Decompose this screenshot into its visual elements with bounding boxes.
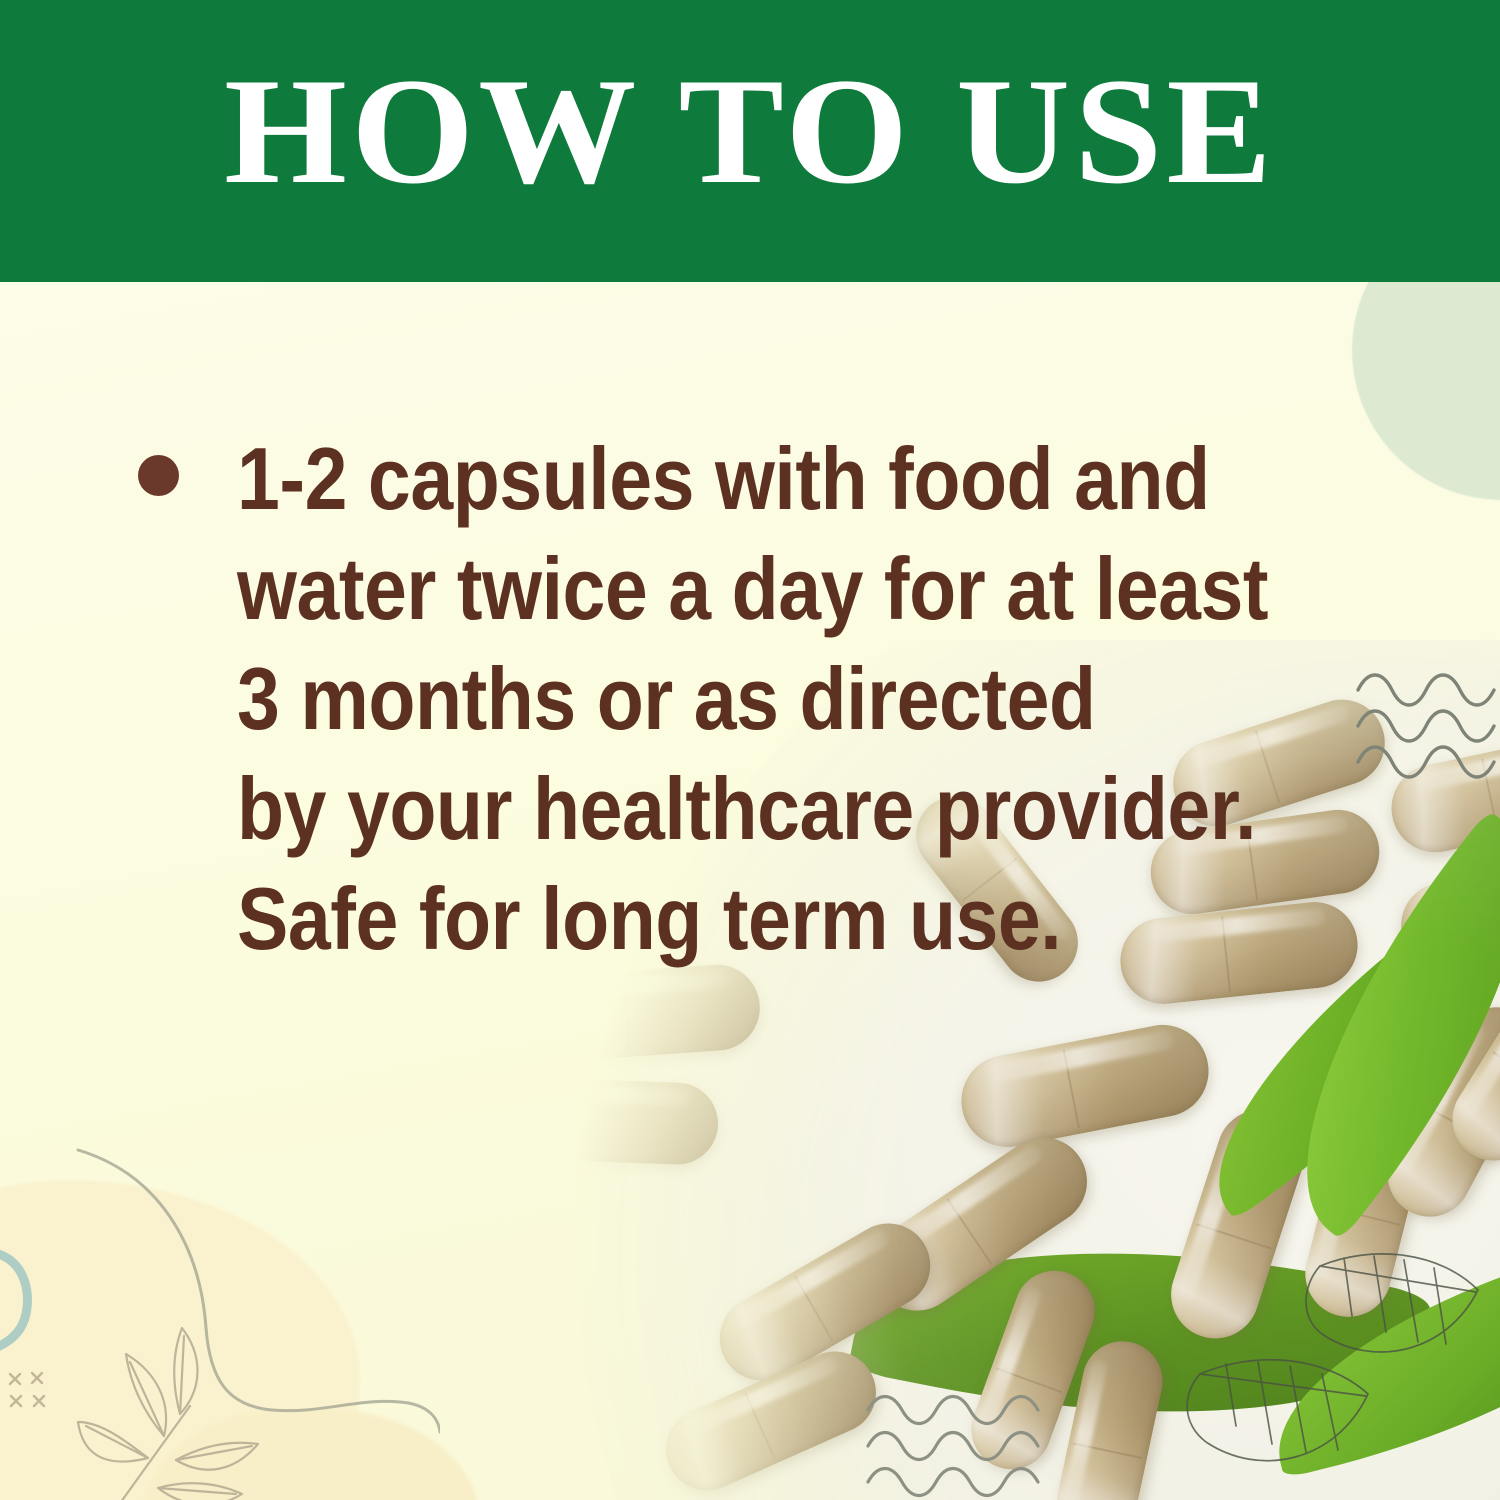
capsule bbox=[560, 1076, 719, 1166]
instruction-line: 3 months or as directed bbox=[237, 644, 1268, 754]
instruction-block: 1-2 capsules with food and water twice a… bbox=[138, 424, 1198, 974]
wavy-lines-bottom-decoration bbox=[862, 1388, 1052, 1500]
instruction-line: Safe for long term use. bbox=[237, 864, 1268, 974]
leaf-lineart-icon bbox=[1160, 1140, 1500, 1500]
bullet-point-icon bbox=[138, 455, 179, 496]
leaf-sprig-icon bbox=[30, 1310, 320, 1500]
header-banner: HOW TO USE bbox=[0, 0, 1500, 282]
instruction-line: by your healthcare provider. bbox=[237, 754, 1268, 864]
page-title: HOW TO USE bbox=[0, 55, 1500, 207]
instruction-text: 1-2 capsules with food and water twice a… bbox=[237, 424, 1268, 974]
instruction-line: water twice a day for at least bbox=[237, 534, 1268, 644]
instruction-line: 1-2 capsules with food and bbox=[237, 424, 1268, 534]
wavy-lines-decoration bbox=[1352, 664, 1500, 784]
how-to-use-card: HOW TO USE 1-2 capsules with food and wa… bbox=[0, 0, 1500, 1500]
